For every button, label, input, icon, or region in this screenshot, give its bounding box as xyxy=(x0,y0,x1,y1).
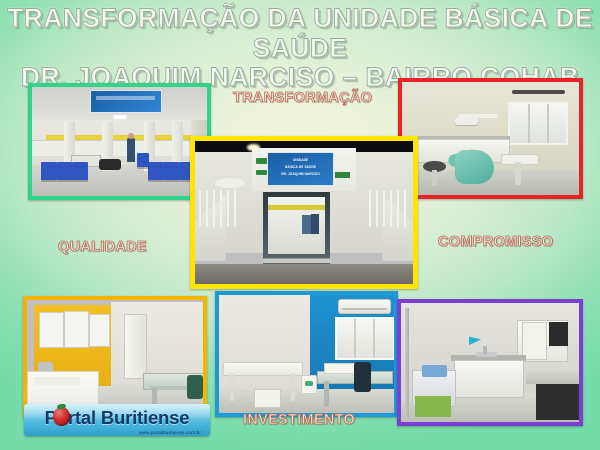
office-chair xyxy=(187,375,203,400)
logo-url-text: www.portalburitiense.com.br xyxy=(139,430,201,435)
window xyxy=(39,312,64,348)
person xyxy=(127,138,136,162)
title-line-1: TRANSFORMAÇÃO DA UNIDADE BÁSICA DE SAÚDE xyxy=(0,4,600,63)
chair xyxy=(72,162,88,179)
window xyxy=(64,311,89,348)
government-logo-icon xyxy=(335,157,350,170)
dental-chair xyxy=(455,150,494,184)
exam-table-base xyxy=(536,384,579,420)
equipment xyxy=(99,159,122,170)
entrance-step xyxy=(263,258,331,263)
photo-procedure-room-image xyxy=(401,303,579,422)
government-band-icon xyxy=(335,172,350,178)
logo-brand-text: Portal Buritiense xyxy=(24,409,210,428)
cart-equipment xyxy=(422,365,447,377)
caption-transformacao: TRANSFORMAÇÃO xyxy=(233,90,372,106)
presentation-slide: TRANSFORMAÇÃO DA UNIDADE BÁSICA DE SAÚDE… xyxy=(0,0,600,450)
ceiling-fixture xyxy=(512,90,565,95)
person xyxy=(302,215,311,234)
sign-line-2: BÁSICA DE SAÚDE xyxy=(272,165,330,170)
chair xyxy=(148,162,164,179)
desk-leg xyxy=(324,381,329,407)
chair xyxy=(41,162,57,179)
window xyxy=(89,314,110,348)
photo-entrance-image: UNIDADE BÁSICA DE SAÚDE DR. JOAQUIM NARC… xyxy=(195,141,413,284)
photo-blue-room[interactable] xyxy=(215,291,398,417)
base-cabinet xyxy=(454,360,524,398)
step-stool xyxy=(254,389,281,408)
sign-line-3: DR. JOAQUIM NARCISO xyxy=(272,172,330,177)
faucet xyxy=(483,346,487,354)
ground xyxy=(195,264,413,284)
photo-yellow-room-image xyxy=(27,300,203,413)
photo-waiting-room-image xyxy=(32,87,207,196)
window xyxy=(508,102,569,144)
dental-light xyxy=(455,117,478,125)
air-conditioner xyxy=(338,299,391,314)
watermark-logo[interactable]: Portal Buritiense www.portalburitiense.c… xyxy=(24,404,210,436)
sign-line-1: UNIDADE xyxy=(272,158,330,163)
photo-procedure-room[interactable] xyxy=(397,299,583,426)
berry-icon xyxy=(53,407,70,426)
photo-yellow-room[interactable] xyxy=(23,296,207,417)
exam-table-paper xyxy=(34,377,80,385)
railing xyxy=(199,190,238,227)
info-banner xyxy=(90,90,162,113)
chair xyxy=(57,162,73,179)
lobby-wall-stripe xyxy=(268,205,325,209)
person xyxy=(311,214,320,234)
wall-cabinet-opening xyxy=(549,322,569,346)
chair xyxy=(163,162,179,179)
stool-leg xyxy=(432,170,437,186)
door-frame xyxy=(405,308,409,417)
window xyxy=(335,317,395,360)
photo-dental-office-image xyxy=(402,82,579,195)
caption-qualidade: QUALIDADE xyxy=(58,239,147,255)
photo-waiting-room[interactable] xyxy=(28,83,211,200)
ceiling-lamp xyxy=(113,115,127,118)
photo-blue-room-image xyxy=(219,295,394,413)
door xyxy=(124,314,147,379)
exam-table-leg xyxy=(230,373,234,401)
municipal-logo-icon xyxy=(256,170,267,176)
tray-leg xyxy=(515,162,520,185)
wall-cabinet-door xyxy=(522,322,547,360)
cart-container xyxy=(415,396,451,417)
exam-table-leg xyxy=(291,373,295,401)
papers xyxy=(324,363,356,373)
caption-compromisso: COMPROMISSO xyxy=(438,234,553,250)
office-chair xyxy=(354,362,372,392)
photo-dental-office[interactable] xyxy=(398,78,583,199)
railing xyxy=(369,190,408,227)
health-unit-sign: UNIDADE BÁSICA DE SAÚDE DR. JOAQUIM NARC… xyxy=(267,152,334,185)
photo-entrance[interactable]: UNIDADE BÁSICA DE SAÚDE DR. JOAQUIM NARC… xyxy=(190,136,418,289)
exam-table xyxy=(526,370,579,384)
chair xyxy=(137,153,149,166)
municipal-logo-icon xyxy=(256,158,267,164)
waste-bin xyxy=(301,375,317,394)
